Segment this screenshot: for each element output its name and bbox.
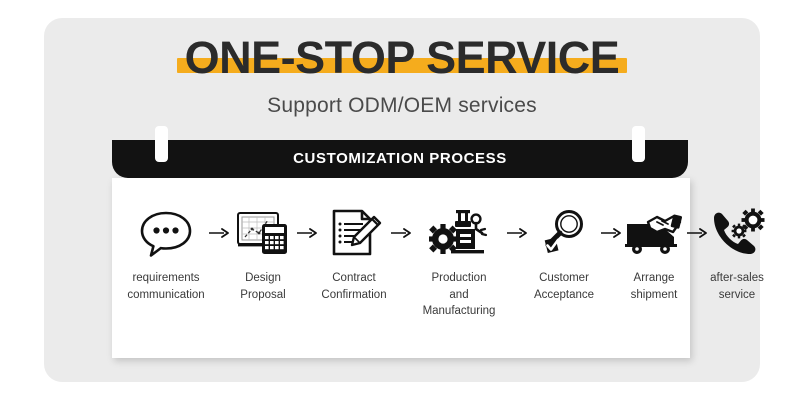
flow-arrow-icon	[208, 204, 230, 262]
headline-block: ONE-STOP SERVICE Support ODM/OEM service…	[44, 26, 760, 136]
process-step-label-line2: Acceptance	[534, 287, 594, 304]
process-step-label: Contract Confirmation	[321, 270, 386, 303]
process-step-label-line1: Production	[413, 270, 505, 287]
process-flow-panel: requirements communication	[112, 178, 690, 358]
process-step-after-sales-service: after-sales service	[708, 204, 766, 303]
gear-factory-robot-icon	[429, 204, 489, 262]
page-subtitle: Support ODM/OEM services	[44, 94, 760, 118]
process-step-label-line2: service	[710, 287, 764, 304]
process-step-label-line1: Design	[240, 270, 285, 287]
page-title: ONE-STOP SERVICE	[185, 34, 620, 81]
flow-arrow-icon	[296, 204, 318, 262]
process-step-label-line2: Confirmation	[321, 287, 386, 304]
banner-title: CUSTOMIZATION PROCESS	[112, 150, 688, 167]
process-step-label-line1: requirements	[127, 270, 204, 287]
process-step-label: Customer Acceptance	[534, 270, 594, 303]
phone-gears-icon	[708, 204, 766, 262]
banner-tab-right	[632, 126, 645, 162]
flow-arrow-icon	[600, 204, 622, 262]
title-wrap: ONE-STOP SERVICE	[185, 34, 620, 81]
process-step-requirements-communication: requirements communication	[124, 204, 208, 303]
poster-stage: ONE-STOP SERVICE Support ODM/OEM service…	[0, 0, 800, 400]
process-step-label-line2: shipment	[631, 287, 678, 304]
customization-process-banner: CUSTOMIZATION PROCESS	[112, 140, 688, 178]
process-step-design-proposal: Design Proposal	[230, 204, 296, 303]
process-flow-row: requirements communication	[124, 204, 678, 320]
process-step-label: requirements communication	[127, 270, 204, 303]
process-step-label: after-sales service	[710, 270, 764, 303]
banner-tab-left	[155, 126, 168, 162]
process-step-label: Production and Manufacturing	[413, 270, 505, 320]
flow-arrow-icon	[390, 204, 412, 262]
process-step-label: Arrange shipment	[631, 270, 678, 303]
process-step-label-line1: after-sales	[710, 270, 764, 287]
process-step-production-manufacturing: Production and Manufacturing	[412, 204, 506, 320]
process-step-label-line2: communication	[127, 287, 204, 304]
flow-arrow-icon	[506, 204, 528, 262]
process-step-label-line1: Contract	[321, 270, 386, 287]
speech-bubble-dots-icon	[138, 204, 194, 262]
process-step-label-line1: Customer	[534, 270, 594, 287]
process-step-customer-acceptance: Customer Acceptance	[528, 204, 600, 303]
magnifier-checkmark-icon	[536, 204, 592, 262]
process-step-label: Design Proposal	[240, 270, 285, 303]
document-pen-icon	[326, 204, 382, 262]
blueprint-calculator-icon	[235, 204, 291, 262]
process-step-arrange-shipment: Arrange shipment	[622, 204, 686, 303]
process-step-contract-confirmation: Contract Confirmation	[318, 204, 390, 303]
flow-arrow-icon	[686, 204, 708, 262]
truck-handshake-icon	[624, 204, 684, 262]
process-step-label-line2: Proposal	[240, 287, 285, 304]
process-step-label-line2: and Manufacturing	[413, 287, 505, 320]
process-step-label-line1: Arrange	[631, 270, 678, 287]
